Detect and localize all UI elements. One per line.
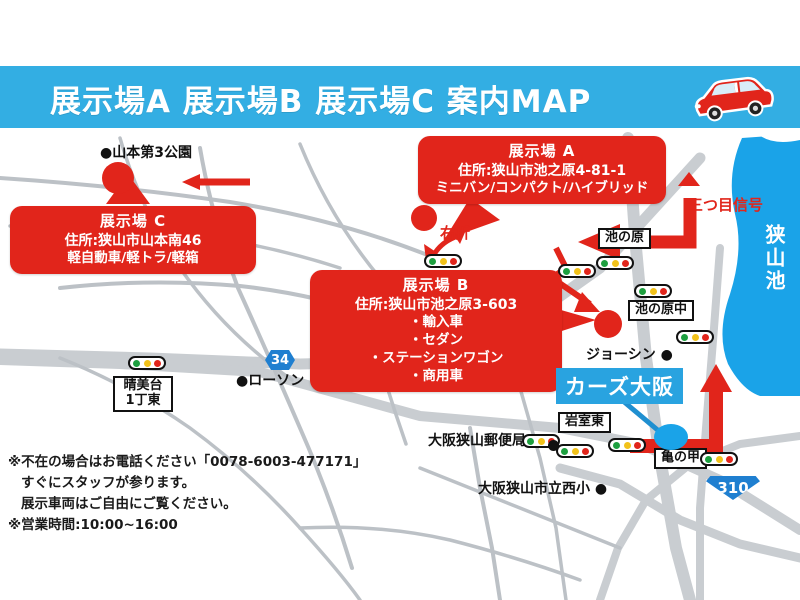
intersection-ikenohara-naka: 池の原中	[628, 300, 694, 321]
marker-showroom-a	[411, 205, 437, 231]
poi-joshin: ジョーシン ●	[586, 344, 673, 364]
red-car-icon	[686, 74, 780, 122]
map-flyer: 展示場A 展示場B 展示場C 案内MAP	[0, 0, 800, 600]
showroom-c-line-1: 軽自動車/軽トラ/軽箱	[20, 250, 246, 268]
page-title: 展示場A 展示場B 展示場C 案内MAP	[50, 76, 591, 121]
intersection-harumidai-line1: 晴美台	[123, 378, 162, 393]
showroom-a-address: 住所:狭山市池之原4-81-1	[428, 162, 656, 180]
route-arrow-west	[182, 174, 250, 190]
annotation-turn-right: 右折	[440, 222, 470, 243]
traffic-signal-icon	[700, 452, 738, 466]
intersection-ikenohara: 池の原	[598, 228, 651, 249]
footer-notes: ※不在の場合はお電話ください「0078-6003-477171」 すぐにスタッフ…	[8, 452, 408, 536]
traffic-signal-icon	[634, 284, 672, 298]
traffic-signal-icon	[608, 438, 646, 452]
intersection-iwamuro-higashi: 岩室東	[558, 412, 611, 433]
poi-yamamoto-park: ●山本第3公園	[100, 142, 192, 162]
route-34-shield: 34	[265, 350, 295, 370]
poi-nishi-elementary: 大阪狭山市立西小 ●	[478, 478, 607, 498]
footer-line-3: 展示車両はご自由にご覧ください。	[8, 494, 408, 515]
showroom-b-callout: 展示場 B 住所:狭山市池之原3-603 ・輸入車 ・セダン ・ステーションワゴ…	[310, 270, 562, 392]
traffic-signal-icon	[556, 444, 594, 458]
traffic-signal-icon	[676, 330, 714, 344]
marker-showroom-b	[594, 310, 622, 338]
footer-line-2: すぐにスタッフが参ります。	[8, 473, 408, 494]
showroom-b-line-1: ・輸入車	[320, 314, 552, 332]
showroom-b-address: 住所:狭山市池之原3-603	[320, 296, 552, 314]
showroom-b-title: 展示場 B	[320, 276, 552, 296]
poi-lawson: ●ローソン	[236, 370, 304, 390]
poi-dot	[548, 440, 559, 451]
showroom-a-title: 展示場 A	[428, 142, 656, 162]
footer-line-4: ※営業時間:10:00~16:00	[8, 515, 408, 536]
shop-location-dot	[654, 424, 688, 450]
showroom-a-callout: 展示場 A 住所:狭山市池之原4-81-1 ミニバン/コンパクト/ハイブリッド	[418, 136, 666, 204]
showroom-b-line-2: ・セダン	[320, 332, 552, 350]
showroom-c-title: 展示場 C	[20, 212, 246, 232]
lake-label-sayamaike: 狭山池	[760, 224, 789, 293]
showroom-c-address: 住所:狭山市山本南46	[20, 232, 246, 250]
traffic-signal-icon	[424, 254, 462, 268]
intersection-harumidai: 晴美台 1丁東	[113, 376, 173, 412]
showroom-b-line-3: ・ステーションワゴン	[320, 350, 552, 368]
showroom-a-line-1: ミニバン/コンパクト/ハイブリッド	[428, 180, 656, 198]
traffic-signal-icon	[596, 256, 634, 270]
annotation-third-signal: 三つ目信号	[688, 194, 763, 215]
showroom-b-line-4: ・商用車	[320, 368, 552, 386]
intersection-harumidai-line2: 1丁東	[125, 393, 160, 408]
showroom-c-callout: 展示場 C 住所:狭山市山本南46 軽自動車/軽トラ/軽箱	[10, 206, 256, 274]
marker-showroom-c	[102, 162, 134, 194]
footer-line-1: ※不在の場合はお電話ください「0078-6003-477171」	[8, 452, 408, 473]
traffic-signal-icon	[128, 356, 166, 370]
traffic-signal-icon	[558, 264, 596, 278]
shop-label-cars-osaka: カーズ大阪	[556, 368, 683, 404]
